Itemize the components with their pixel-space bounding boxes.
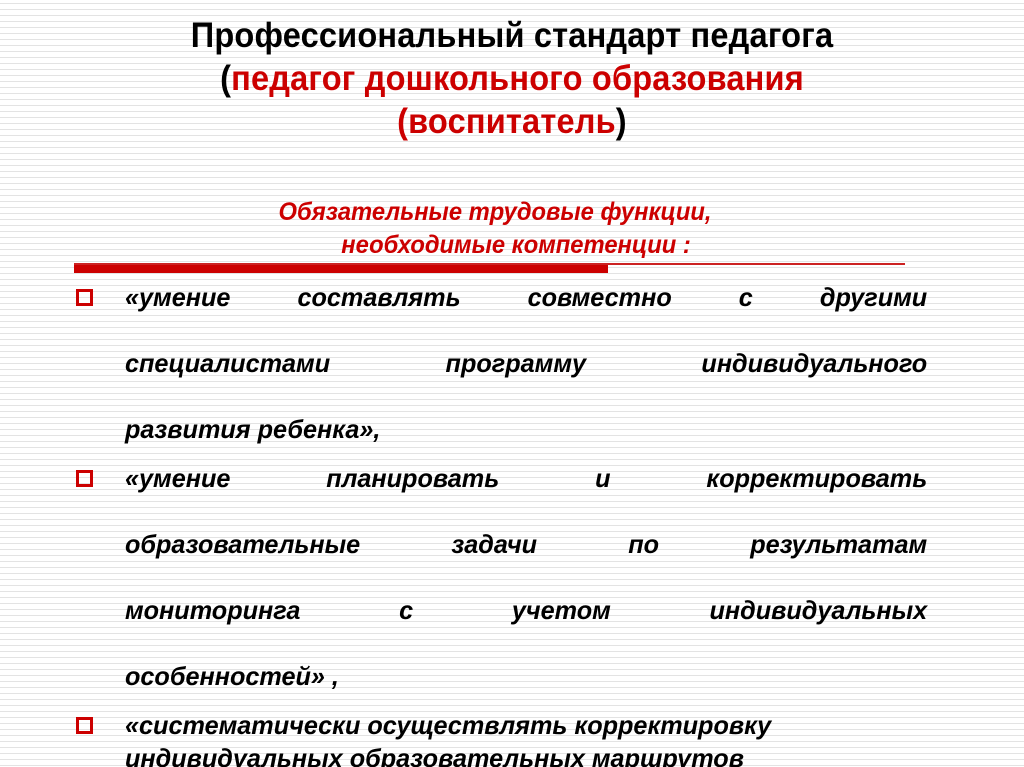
divider-thick-bar xyxy=(74,265,608,273)
bullet-text-1: «умение составлять совместно с другими с… xyxy=(125,281,927,446)
list-item: «умение планировать и корректировать обр… xyxy=(0,462,1024,693)
bullet-text-2: «умение планировать и корректировать обр… xyxy=(125,462,927,693)
title-line-2: (педагог дошкольного образования xyxy=(36,57,988,100)
title-line-3-close-paren: ) xyxy=(616,102,627,141)
bullet-1-line-1: «умение составлять совместно с другими xyxy=(125,281,927,347)
bullet-3-line-1: «систематически осуществлять корректиров… xyxy=(125,709,927,742)
title-line-1: Профессиональный стандарт педагога xyxy=(36,14,988,57)
bullet-2-line-1: «умение планировать и корректировать xyxy=(125,462,927,528)
title-line-2-text: педагог дошкольного образования xyxy=(231,59,804,98)
slide-canvas: Профессиональный стандарт педагога (педа… xyxy=(0,0,1024,767)
title-line-3: (воспитатель) xyxy=(36,100,988,143)
bullet-1-line-3: развития ребенка», xyxy=(125,413,927,446)
bullet-2-line-2: образовательные задачи по результатам xyxy=(125,528,927,594)
bullet-1-line-2: специалистами программу индивидуального xyxy=(125,347,927,413)
subtitle-line-2: необходимые компетенции : xyxy=(33,229,998,262)
bullet-2-line-4: особенностей» , xyxy=(125,660,927,693)
list-item: «умение составлять совместно с другими с… xyxy=(0,281,1024,446)
slide-title: Профессиональный стандарт педагога (педа… xyxy=(0,14,1024,143)
hollow-square-bullet-icon xyxy=(76,717,93,734)
hollow-square-bullet-icon xyxy=(76,470,93,487)
title-line-2-open-paren: ( xyxy=(220,59,231,98)
slide-subtitle: Обязательные трудовые функции, необходим… xyxy=(0,196,1024,262)
bullet-list: «умение составлять совместно с другими с… xyxy=(0,281,1024,767)
bullet-2-line-3: мониторинга с учетом индивидуальных xyxy=(125,594,927,660)
list-item: «систематически осуществлять корректиров… xyxy=(0,709,1024,767)
hollow-square-bullet-icon xyxy=(76,289,93,306)
subtitle-line-1: Обязательные трудовые функции, xyxy=(0,196,998,229)
bullet-3-line-2: индивидуальных образовательных маршрутов xyxy=(125,742,927,767)
title-line-3-text: (воспитатель xyxy=(397,102,616,141)
bullet-text-3: «систематически осуществлять корректиров… xyxy=(125,709,927,767)
